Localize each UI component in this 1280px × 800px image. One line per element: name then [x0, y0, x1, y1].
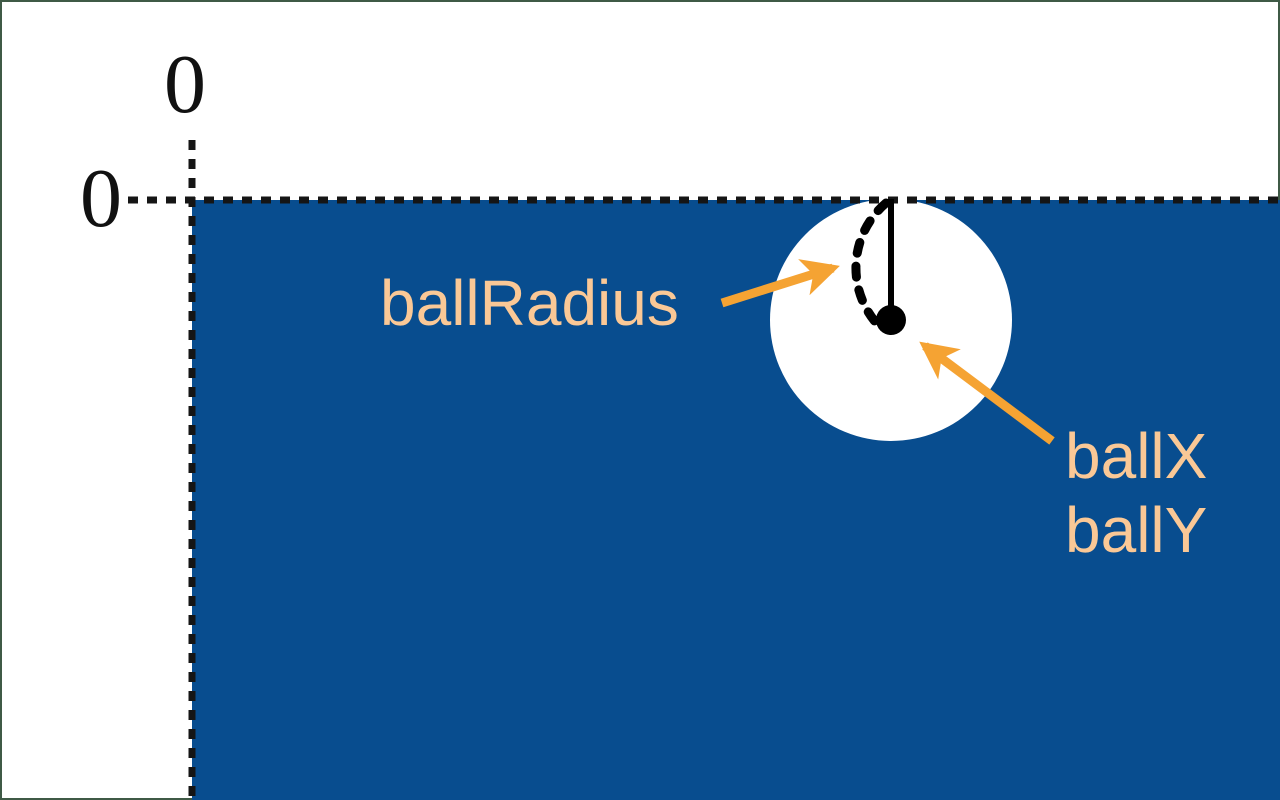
origin-label-x: 0 [164, 38, 206, 131]
ball-center-dot [876, 305, 906, 335]
origin-label-y: 0 [80, 152, 122, 245]
diagram-stage: 0 0 ballRadius ballX ballY [0, 0, 1280, 800]
ball-coordinate-diagram: 0 0 ballRadius ballX ballY [0, 0, 1280, 800]
ball-y-label: ballY [1065, 494, 1207, 566]
ball-x-label: ballX [1065, 420, 1207, 492]
ball-radius-label: ballRadius [380, 267, 679, 339]
